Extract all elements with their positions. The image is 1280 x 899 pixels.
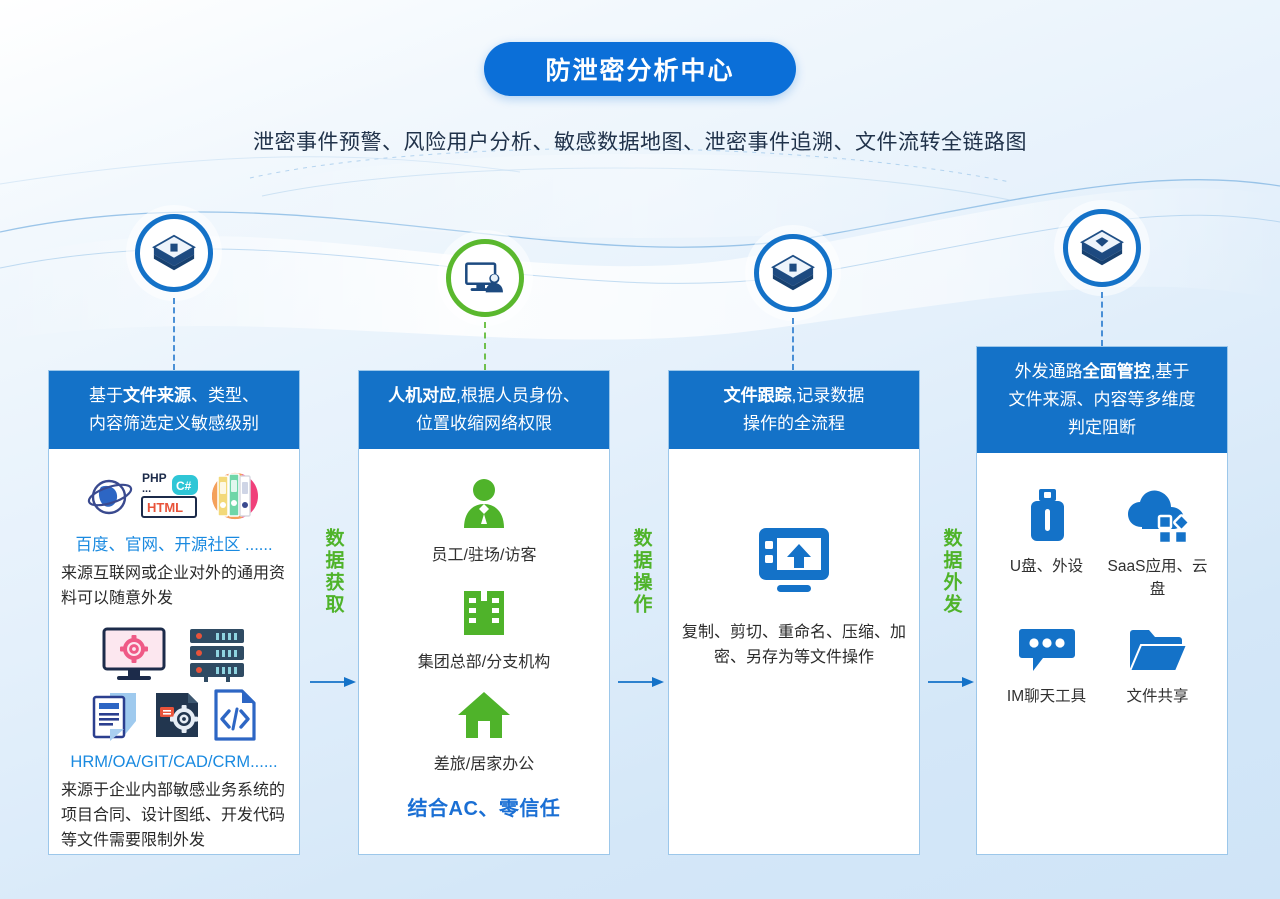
label-home: 差旅/居家办公 [434,750,534,774]
connector-label-3: 数据外发 [938,528,965,616]
card-file-source-header: 基于文件来源、类型、内容筛选定义敏感级别 [49,371,299,449]
caption-public-sources: 百度、官网、开源社区 ...... [75,531,272,555]
connector-label-1: 数据获取 [320,528,347,616]
svg-text:HTML: HTML [147,500,183,515]
desc-public-sources: 来源互联网或企业对外的通用资料可以随意外发 [61,561,287,611]
label-saas: SaaS应用、云盘 [1104,555,1211,601]
card-human-machine-header: 人机对应,根据人员身份、位置收缩网络权限 [359,371,609,449]
node-data-source[interactable] [135,214,213,292]
node-file-tracking[interactable] [754,234,832,312]
binders-icon [208,469,262,521]
dashed-connector-3 [792,318,794,370]
stacked-box-icon [770,250,816,296]
document-stack-icon [88,687,144,743]
item-home: 差旅/居家办公 [434,689,534,774]
folder-icon [1127,625,1189,675]
chat-bubble-icon [1017,625,1077,675]
monitor-gear-icon [100,625,176,683]
secure-doc-gear-icon [152,687,202,743]
globe-icon [86,473,136,521]
card-file-source: 基于文件来源、类型、内容筛选定义敏感级别 PHP ... C# HTML [48,370,300,855]
icon-cluster-internal-systems [88,625,260,743]
desc-internal-systems: 来源于企业内部敏感业务系统的项目合同、设计图纸、开发代码等文件需要限制外发 [61,778,287,853]
channel-im: IM聊天工具 [993,625,1100,708]
dashed-connector-4 [1101,292,1103,346]
stacked-box-shield-icon [1079,225,1125,271]
home-icon [456,689,512,741]
monitor-person-icon [462,255,508,301]
card-file-tracking-header: 文件跟踪,记录数据操作的全流程 [669,371,919,449]
connector-data-acquisition: 数据获取 [310,528,356,688]
card-outbound-header: 外发通路全面管控,基于文件来源、内容等多维度判定阻断 [977,347,1227,453]
outbound-channel-grid: U盘、外设 SaaS应用、云盘 IM聊天工 [993,487,1211,708]
item-employee: 员工/驻场/访客 [432,476,537,565]
person-tie-icon [456,476,512,532]
server-rack-icon [186,625,248,683]
label-building: 集团总部/分支机构 [418,648,550,672]
caption-internal-systems: HRM/OA/GIT/CAD/CRM...... [70,753,277,772]
connector-data-outbound: 数据外发 [928,528,974,688]
page-title: 防泄密分析中心 [484,42,796,96]
arrow-right-icon-1 [310,676,356,688]
item-building: 集团总部/分支机构 [418,583,550,672]
dashed-connector-1 [173,298,175,370]
php-html-csharp-icon: PHP ... C# HTML [140,469,204,521]
stacked-box-icon [151,230,197,276]
svg-text:...: ... [142,483,151,495]
card-outbound: 外发通路全面管控,基于文件来源、内容等多维度判定阻断 U盘、外设 [976,346,1228,855]
svg-text:C#: C# [176,479,192,493]
cloud-apps-icon [1126,487,1190,545]
icon-cluster-public-sources: PHP ... C# HTML [86,469,262,521]
usb-drive-icon [1024,487,1070,545]
card-file-tracking: 文件跟踪,记录数据操作的全流程 复制、剪切、重命名、压缩、加密、另存为等文件操作 [668,370,920,855]
card-human-machine: 人机对应,根据人员身份、位置收缩网络权限 员工/驻场/访客 [358,370,610,855]
connector-label-2: 数据操作 [628,528,655,616]
label-im: IM聊天工具 [1007,685,1086,708]
channel-saas: SaaS应用、云盘 [1104,487,1211,601]
label-employee: 员工/驻场/访客 [432,541,537,565]
code-file-icon [210,687,260,743]
file-upload-screen-icon [755,524,833,598]
connector-data-operation: 数据操作 [618,528,664,688]
label-fileshare: 文件共享 [1126,685,1188,708]
page-subtitle: 泄密事件预警、风险用户分析、敏感数据地图、泄密事件追溯、文件流转全链路图 [0,126,1280,156]
node-human-machine[interactable] [446,239,524,317]
channel-usb: U盘、外设 [993,487,1100,601]
node-outbound[interactable] [1063,209,1141,287]
channel-fileshare: 文件共享 [1104,625,1211,708]
dashed-connector-2 [484,322,486,370]
desc-file-operations: 复制、剪切、重命名、压缩、加密、另存为等文件操作 [681,620,907,670]
note-ac-zerotrust: 结合AC、零信任 [408,792,561,821]
office-building-icon [456,583,512,639]
arrow-right-icon-2 [618,676,664,688]
label-usb: U盘、外设 [1010,555,1083,578]
arrow-right-icon-3 [928,676,974,688]
